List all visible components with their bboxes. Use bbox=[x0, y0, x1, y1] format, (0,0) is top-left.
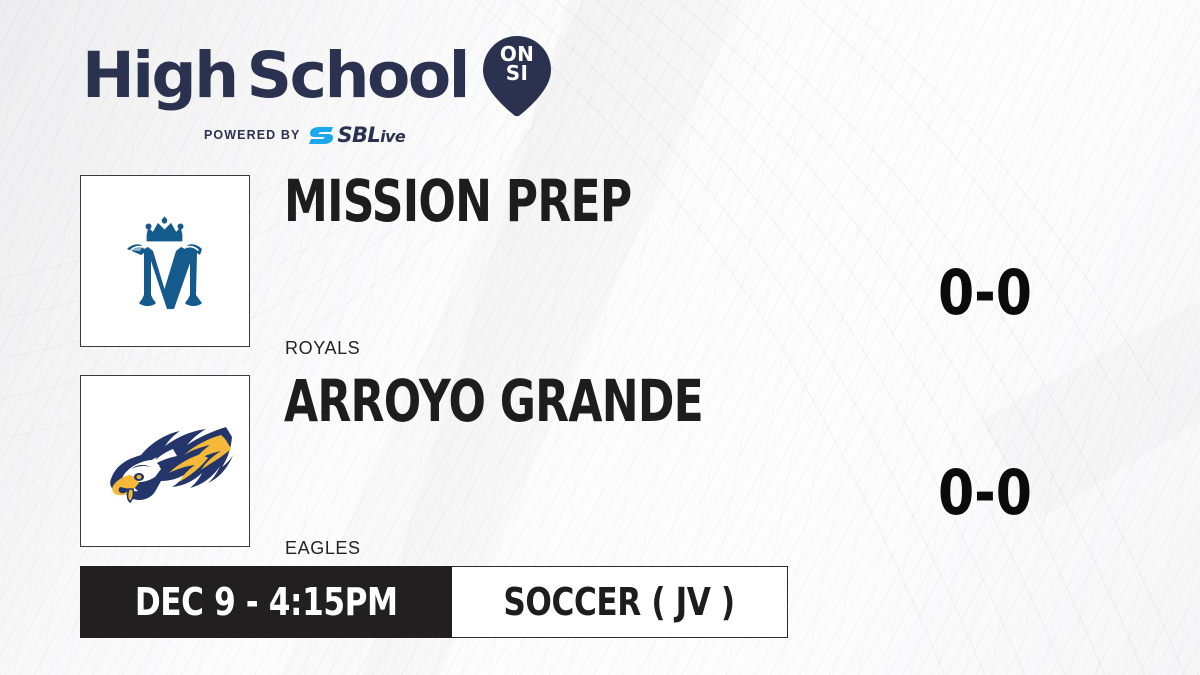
brand-word-school: School bbox=[247, 46, 468, 106]
sblive-word-bold: SBL bbox=[337, 123, 380, 147]
team-score-arroyo-grande: 0-0 bbox=[918, 462, 1052, 524]
on-si-pin-label: ON SI bbox=[480, 45, 554, 83]
team-name-arroyo-grande: ARROYO GRANDE bbox=[284, 372, 703, 430]
sblive-logo[interactable]: SBLive bbox=[309, 123, 405, 147]
sblive-wordmark: SBLive bbox=[337, 123, 405, 147]
team-logo-tile-mission-prep[interactable] bbox=[80, 175, 250, 347]
game-sport-label: SOCCER ( JV ) bbox=[504, 583, 735, 621]
team-mascot-royals: ROYALS bbox=[285, 338, 360, 359]
game-info-bar: DEC 9 - 4:15PM SOCCER ( JV ) bbox=[80, 566, 788, 638]
sblive-s-mark-icon bbox=[309, 126, 335, 145]
pin-line-si: SI bbox=[480, 64, 554, 83]
sblive-word-light: ive bbox=[380, 127, 405, 146]
powered-by-label: POWERED BY bbox=[204, 128, 300, 142]
brand-wordmark-row: High School ON SI bbox=[82, 34, 602, 118]
team-name-mission-prep: MISSION PREP bbox=[284, 172, 631, 230]
game-datetime-label: DEC 9 - 4:15PM bbox=[135, 583, 398, 621]
team-logo-tile-arroyo-grande[interactable] bbox=[80, 375, 250, 547]
team-mascot-eagles: EAGLES bbox=[285, 538, 361, 559]
brand-word-high: High bbox=[82, 46, 237, 106]
matchup-card: High School ON SI POWERED BY SBLive bbox=[0, 0, 1200, 675]
powered-by-row: POWERED BY SBLive bbox=[82, 123, 602, 147]
brand-logo[interactable]: High School ON SI POWERED BY SBLive bbox=[82, 34, 602, 138]
on-si-pin-icon: ON SI bbox=[480, 34, 554, 118]
crowned-m-logo bbox=[101, 197, 229, 325]
team-score-mission-prep: 0-0 bbox=[918, 262, 1052, 324]
eagle-head-logo bbox=[95, 405, 235, 517]
game-sport-chip[interactable]: SOCCER ( JV ) bbox=[452, 566, 787, 638]
game-datetime-chip[interactable]: DEC 9 - 4:15PM bbox=[80, 566, 452, 638]
